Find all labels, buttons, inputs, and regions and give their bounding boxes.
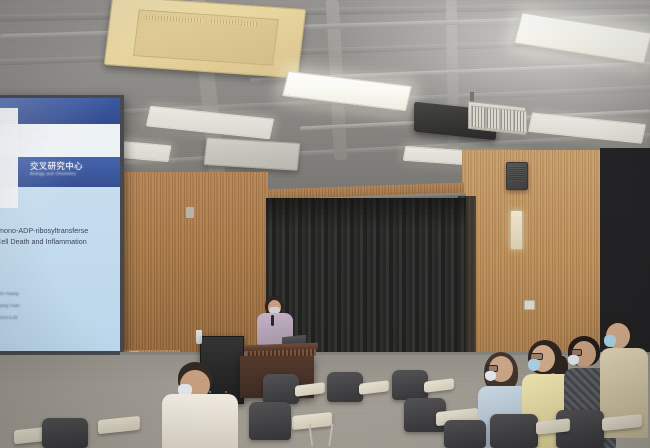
tablet-arm-chair	[327, 372, 363, 402]
microphone	[271, 315, 274, 326]
slide-title-line1: mono-ADP-ribosyltransferse	[0, 226, 88, 235]
projector-vent-slat	[486, 107, 500, 130]
attendee-torso	[162, 394, 238, 448]
attendee-front-left	[160, 362, 250, 448]
wall-outlet	[186, 207, 194, 218]
attendee-face-mask	[568, 355, 579, 365]
slide-top-band	[0, 98, 120, 124]
lecture-hall-photo: 交叉研究中心 Biology and Chemistry mono-ADP-ri…	[0, 0, 650, 448]
projector-vent-slat	[513, 110, 527, 133]
tablet-arm-chair	[444, 420, 486, 448]
projection-screen: 交叉研究中心 Biology and Chemistry mono-ADP-ri…	[0, 95, 124, 355]
projector-vent	[468, 101, 526, 135]
attendee-face-mask	[485, 371, 496, 381]
tablet-arm-chair	[392, 370, 428, 400]
ceiling-ac-cassette	[204, 137, 301, 171]
tablet-arm-chair	[249, 402, 291, 440]
wall-light	[510, 210, 523, 250]
speaker-grille	[509, 166, 524, 182]
slide-date: 2023.5.26	[0, 315, 18, 320]
attendee-face-mask	[604, 335, 616, 347]
tablet-arm-chair	[42, 418, 88, 448]
slide-title-line2: Cell Death and Inflammation	[0, 237, 87, 246]
wall-outlet	[524, 300, 535, 310]
slide-presenter-line1: Xin Huang	[0, 291, 19, 296]
wall-speaker	[506, 162, 528, 190]
tablet-arm-chair	[490, 414, 538, 448]
slide-presenter-line2: nying Yuan	[0, 303, 20, 308]
water-bottle	[196, 330, 202, 344]
ceiling-ac-cassette	[104, 0, 307, 78]
slide-header-en: Biology and Chemistry	[30, 171, 76, 176]
slide-left-overlap	[0, 98, 18, 208]
slide-white-strip	[0, 124, 120, 157]
tablet-arm-chair	[263, 374, 299, 404]
presentation-slide: 交叉研究中心 Biology and Chemistry mono-ADP-ri…	[0, 98, 120, 351]
attendee-face-mask	[528, 359, 540, 371]
curtain-shadow	[266, 198, 466, 228]
projector-vent-slat	[471, 105, 485, 128]
